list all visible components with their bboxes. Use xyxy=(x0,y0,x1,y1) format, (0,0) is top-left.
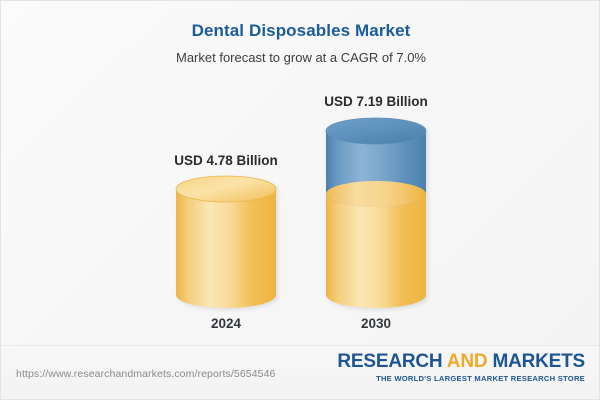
cylinder-bar-2030[interactable] xyxy=(326,118,426,309)
chart-canvas: Dental Disposables Market Market forecas… xyxy=(0,0,600,400)
value-label-2030: USD 7.19 Billion xyxy=(306,94,446,109)
plot-area: USD 4.78 Billion xyxy=(1,1,600,346)
category-label-2024: 2024 xyxy=(156,316,296,331)
logo-wordmark: RESEARCH AND MARKETS xyxy=(337,352,585,372)
category-label-2030: 2030 xyxy=(306,316,446,331)
source-url[interactable]: https://www.researchandmarkets.com/repor… xyxy=(16,368,275,380)
logo-tagline: THE WORLD'S LARGEST MARKET RESEARCH STOR… xyxy=(337,374,585,383)
cylinder-bar-2024[interactable] xyxy=(176,177,276,309)
logo-word-markets: MARKETS xyxy=(487,351,585,372)
chart-footer: https://www.researchandmarkets.com/repor… xyxy=(1,345,599,399)
value-label-2024: USD 4.78 Billion xyxy=(156,153,296,168)
research-and-markets-logo[interactable]: RESEARCH AND MARKETS THE WORLD'S LARGEST… xyxy=(337,352,585,383)
logo-word-research: RESEARCH xyxy=(337,351,446,372)
logo-word-and: AND xyxy=(447,351,488,372)
